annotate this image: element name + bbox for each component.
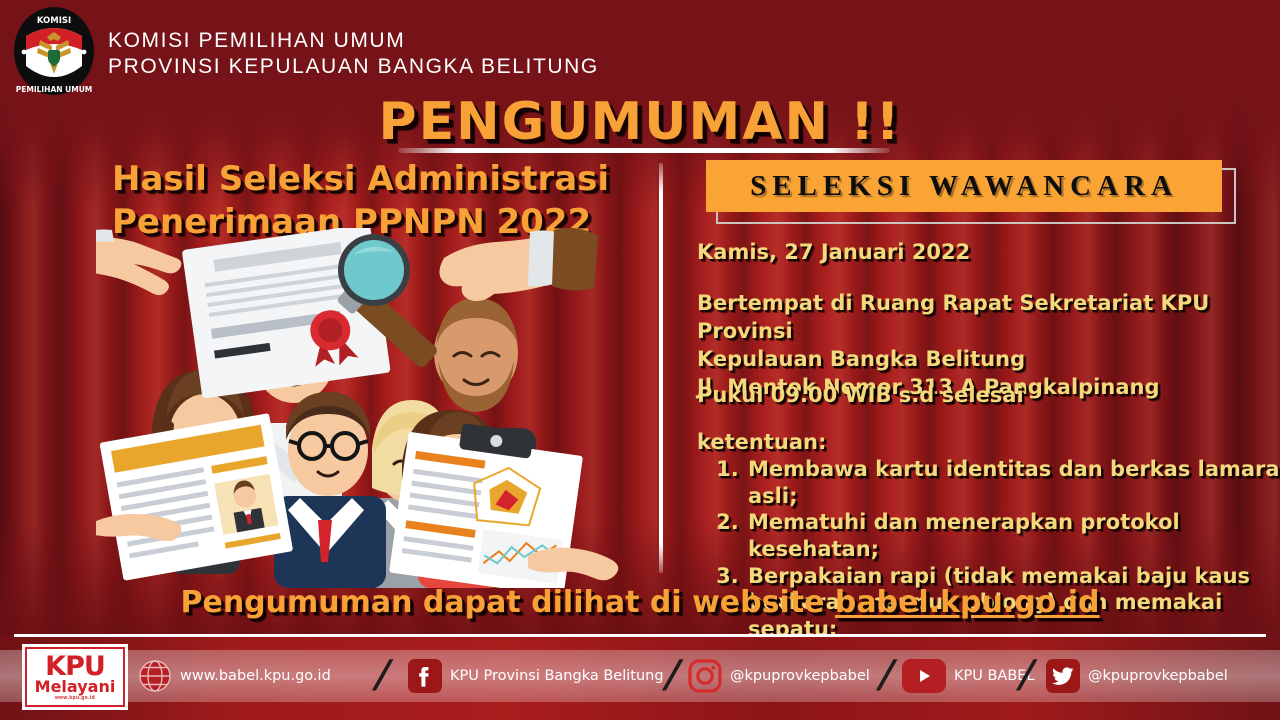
globe-icon	[138, 659, 172, 693]
footer-item-label: KPU Provinsi Bangka Belitung	[450, 668, 664, 684]
header-line-1: KOMISI PEMILIHAN UMUM	[108, 28, 599, 54]
status-badge: SELEKSI WAWANCARA	[706, 160, 1222, 212]
footer-top-rule	[14, 634, 1266, 637]
footer-item-label: @kpuprovkepbabel	[1088, 668, 1228, 684]
header-line-2: PROVINSI KEPULAUAN BANGKA BELITUNG	[108, 54, 599, 80]
hand-giving-certificate	[96, 230, 181, 296]
interview-illustration	[96, 228, 676, 588]
kpu-melayani-logo: KPU Melayani www.kpu.go.id	[22, 644, 128, 710]
instagram-icon	[688, 659, 722, 693]
event-date: Kamis, 27 Januari 2022	[697, 240, 970, 264]
website-link[interactable]: babel.kpu.go.id	[835, 585, 1100, 620]
facebook-icon	[408, 659, 442, 693]
footer-item-website[interactable]: www.babel.kpu.go.id	[138, 650, 331, 702]
terms-list-item: Mematuhi dan menerapkan protokol kesehat…	[746, 509, 1280, 562]
header-title-block: KOMISI PEMILIHAN UMUM PROVINSI KEPULAUAN…	[108, 28, 599, 81]
terms-list-item: Membawa kartu identitas dan berkas lamar…	[746, 456, 1280, 509]
svg-text:KOMISI: KOMISI	[37, 16, 71, 26]
kpu-melayani-url: www.kpu.go.id	[55, 696, 95, 701]
poster-root: KOMISI PEMILIHAN UMUM KOMISI PEMILIHAN U…	[0, 0, 1280, 720]
terms-label: ketentuan:	[697, 430, 826, 454]
title-underline-rule	[398, 148, 890, 153]
footer-item-facebook[interactable]: KPU Provinsi Bangka Belitung	[408, 650, 664, 702]
twitter-icon	[1046, 659, 1080, 693]
youtube-icon	[902, 659, 946, 693]
footer-item-label: www.babel.kpu.go.id	[180, 668, 331, 684]
page-title: PENGUMUMAN !!	[0, 92, 1280, 152]
kpu-garuda-logo-icon: KOMISI PEMILIHAN UMUM	[12, 6, 96, 96]
kpu-melayani-kpu-text: KPU	[45, 653, 105, 680]
subject-heading-line-1: Hasil Seleksi Administrasi	[112, 158, 652, 201]
status-badge-label: SELEKSI WAWANCARA	[750, 170, 1178, 203]
website-announcement-prefix: Pengumuman dapat dilihat di website	[180, 585, 834, 620]
event-location-line-2: Kepulauan Bangka Belitung	[697, 346, 1280, 374]
event-location-line-1: Bertempat di Ruang Rapat Sekretariat KPU…	[697, 290, 1280, 346]
website-announcement: Pengumuman dapat dilihat di website babe…	[0, 585, 1280, 620]
event-time: Pukul 09.00 WIB s.d selesai	[697, 383, 1024, 407]
hand-holding-magnifier	[439, 228, 598, 301]
footer-item-instagram[interactable]: @kpuprovkepbabel	[688, 650, 870, 702]
kpu-melayani-subtext: Melayani	[35, 679, 116, 695]
footer-item-twitter[interactable]: @kpuprovkepbabel	[1046, 650, 1228, 702]
footer-item-label: @kpuprovkepbabel	[730, 668, 870, 684]
cv-document	[99, 413, 293, 581]
vertical-divider	[659, 163, 663, 573]
